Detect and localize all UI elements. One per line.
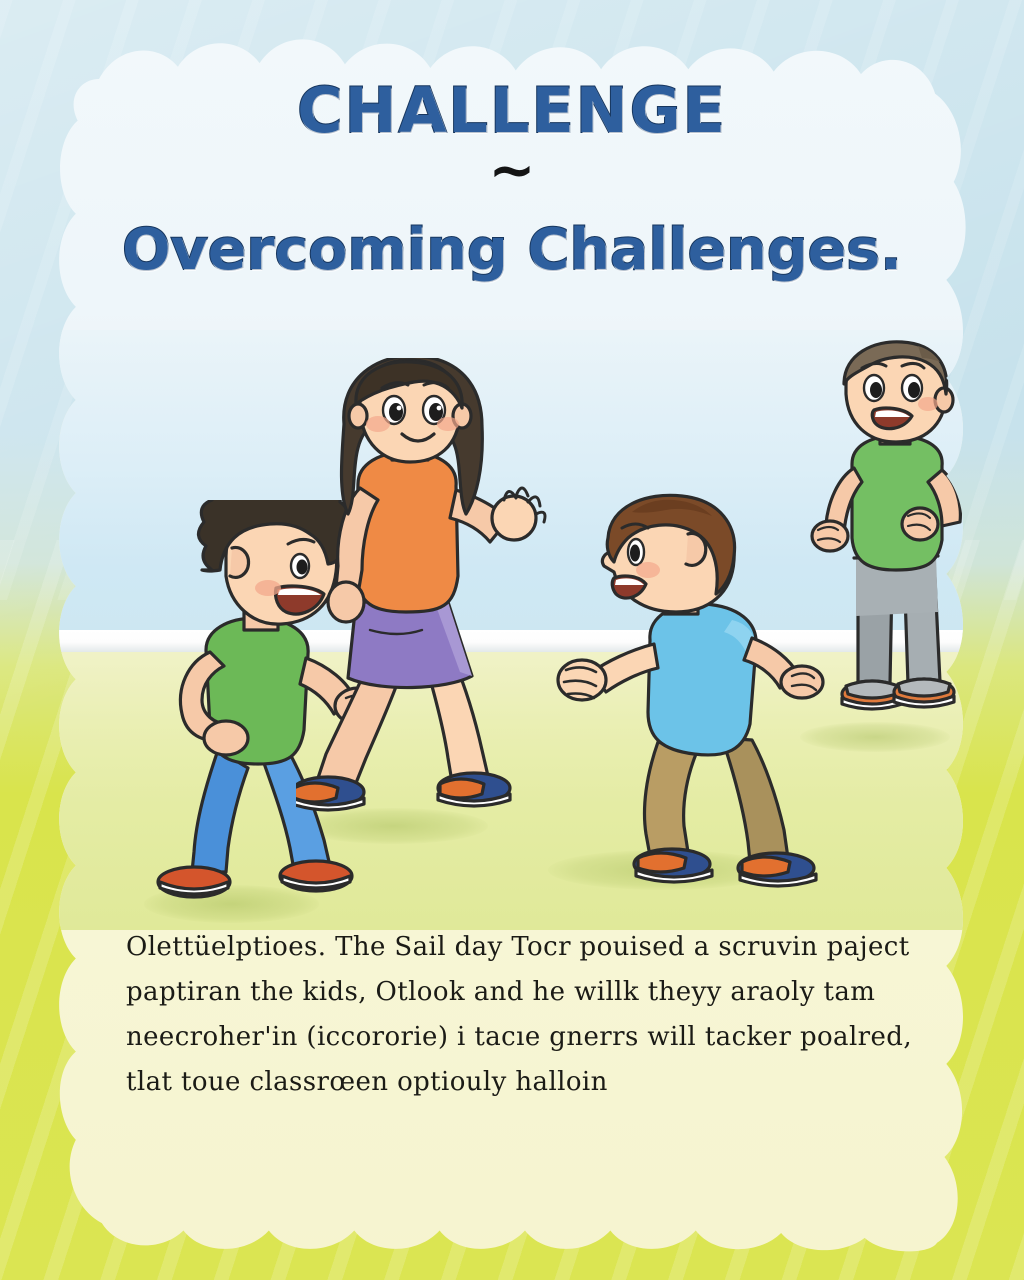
body-line-4: tlat toue classrœen optiouly halloin bbox=[126, 1060, 916, 1105]
body-paragraph: Olettüelptioes. The Sail day Tocr pouise… bbox=[126, 925, 916, 1105]
character-brown-haired-boy bbox=[536, 490, 826, 910]
page-subtitle: Overcoming Challenges. bbox=[48, 219, 976, 282]
divider-tilde: ~ bbox=[48, 157, 976, 185]
body-line-2: paptiran the kids, Otlook and he willk t… bbox=[126, 970, 916, 1015]
card-content: CHALLENGE ~ Overcoming Challenges. Olett… bbox=[48, 30, 976, 1255]
poster-root: CHALLENGE ~ Overcoming Challenges. Olett… bbox=[0, 0, 1024, 1280]
character-long-haired-girl bbox=[296, 358, 566, 858]
illustration-scene bbox=[48, 330, 976, 930]
header-block: CHALLENGE ~ Overcoming Challenges. bbox=[48, 78, 976, 282]
torn-paper-card: CHALLENGE ~ Overcoming Challenges. Olett… bbox=[48, 30, 976, 1255]
page-title: CHALLENGE bbox=[48, 78, 976, 143]
body-line-1: Olettüelptioes. The Sail day Tocr pouise… bbox=[126, 925, 916, 970]
body-line-3: neecroher'in (iccororie) i tacıe gnerrs … bbox=[126, 1015, 916, 1060]
